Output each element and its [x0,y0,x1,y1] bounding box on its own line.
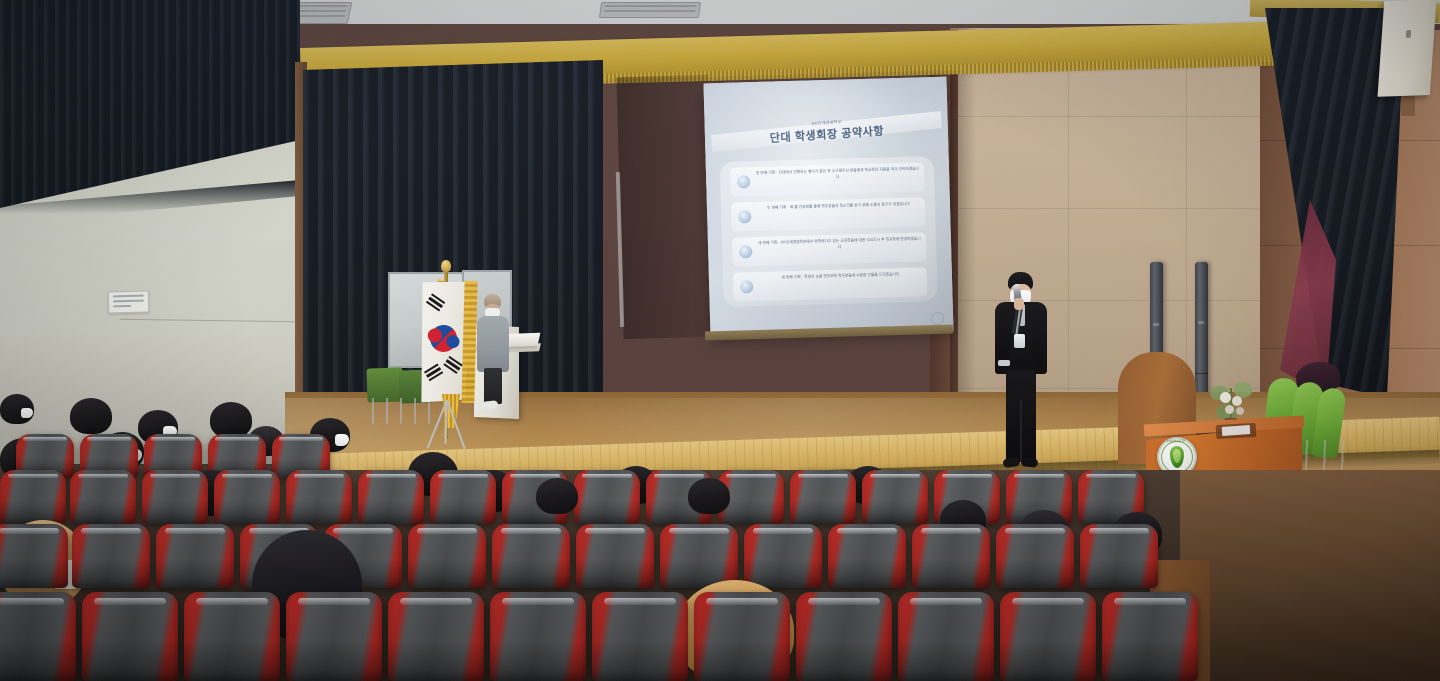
shoe [1002,457,1020,468]
seat-shading [862,500,928,524]
seat-top-trim [196,598,269,605]
seat-top-trim [94,598,167,605]
seat-top-trim [604,598,677,605]
seat-shading [70,500,136,524]
auditorium-seat[interactable] [592,592,688,681]
shoe [482,400,499,410]
bullet-dot-icon [737,175,750,188]
seat-shading [828,559,906,588]
house-floor-right [1180,470,1440,681]
id-badge [1014,334,1025,348]
seat-top-trim [798,474,848,478]
seat-top-trim [400,598,473,605]
auditorium-seat[interactable] [214,470,280,524]
seat-top-trim [1014,474,1064,478]
auditorium-seat[interactable] [408,524,486,588]
seat-top-trim [81,528,140,533]
emblem-top-text: DANKOOK [1156,438,1196,443]
seat-top-trim [0,528,59,533]
seat-top-trim [438,474,488,478]
seat-top-trim [215,437,259,441]
seat-top-trim [222,474,272,478]
seat-top-trim [501,528,560,533]
seat-top-trim [1005,528,1064,533]
seat-top-trim [669,528,728,533]
seat-shading [898,641,994,681]
podium-attendant [476,294,510,412]
seat-shading [694,641,790,681]
seat-top-trim [502,598,575,605]
seat-top-trim [1012,598,1085,605]
slide-bullet: 네 번째 기획 · 학생의 눈을 먼저보며 학우분들께 소중한 선물을 드리겠습… [733,267,928,301]
seat-top-trim [706,598,779,605]
shoe [1021,457,1039,468]
seat-top-trim [753,528,812,533]
flower-blossom [1232,396,1242,406]
arm-right [1032,306,1047,368]
seat-shading [996,559,1074,588]
taeguk-symbol-icon [425,320,461,356]
audience-member [210,402,252,438]
projection-screen: DK인재경영학부 단대 학생회장 공약사항 첫 번째 기획 · 단대에서 진행되… [703,77,953,339]
auditorium-photo: DK인재경영학부 단대 학생회장 공약사항 첫 번째 기획 · 단대에서 진행되… [0,0,1440,681]
trigram-icon [425,293,446,313]
audience-member [688,478,730,514]
auditorium-seat[interactable] [490,592,586,681]
seat-shading [790,500,856,524]
seat-shading [574,500,640,524]
bullet-text: 두 번째 기획 · 매 월 간담회를 통해 학우분들의 목소리를 듣기 위해 소… [756,200,921,211]
seat-top-trim [942,474,992,478]
seat-shading [214,500,280,524]
face-mask-icon [21,408,33,418]
audience-member [0,394,34,424]
seat-top-trim [1114,598,1187,605]
auditorium-seat[interactable] [492,524,570,588]
seat-shading [592,641,688,681]
screen-side-shadow [616,75,715,339]
audience-member [70,398,112,434]
seat-top-trim [1089,528,1148,533]
seat-shading [490,641,586,681]
seat-top-trim [165,528,224,533]
seat-shading [1080,559,1158,588]
seat-top-trim [294,474,344,478]
auditorium-seat[interactable] [912,524,990,588]
auditorium-seat[interactable] [286,592,382,681]
auditorium-seat[interactable] [82,592,178,681]
auditorium-seat[interactable] [0,592,76,681]
slide-bullet: 세 번째 기획 · DK인재경영학부에서 부족하다고 있는 교과목들에 대한 수… [732,232,927,266]
seat-top-trim [150,474,200,478]
seat-top-trim [366,474,416,478]
auditorium-seat[interactable] [430,470,496,524]
flower-blossom [1220,392,1231,403]
seat-top-trim [585,528,644,533]
legs [484,368,502,404]
auditorium-seat[interactable] [184,592,280,681]
seat-shading [912,559,990,588]
seat-shading [0,641,76,681]
seat-top-trim [0,598,64,605]
seat-shading [286,641,382,681]
seat-top-trim [87,437,131,441]
trouser-seam [1020,400,1022,462]
seat-top-trim [726,474,776,478]
flower-blossom [1236,407,1244,415]
seat-top-trim [279,437,323,441]
auditorium-seat[interactable] [694,592,790,681]
auditorium-seat[interactable] [70,470,136,524]
face-mask-icon [335,434,349,446]
auditorium-seat[interactable] [156,524,234,588]
ceiling-vent-icon [599,2,701,18]
slide-bullet-card: 첫 번째 기획 · 단대에서 진행되는 행사가 끝난 후 수고해주신 분들에게 … [720,156,938,307]
seat-top-trim [23,437,67,441]
seat-top-trim [582,474,632,478]
seat-top-trim [1086,474,1136,478]
hand [1014,298,1024,310]
seat-shading [1102,641,1198,681]
auditorium-seat[interactable] [1000,592,1096,681]
bullet-text: 세 번째 기획 · DK인재경영학부에서 부족하다고 있는 교과목들에 대한 수… [757,235,922,252]
seat-top-trim [837,528,896,533]
gray-hoodie [477,316,509,372]
seat-top-trim [78,474,128,478]
auditorium-seat[interactable] [744,524,822,588]
auditorium-seat[interactable] [828,524,906,588]
auditorium-seat[interactable] [996,524,1074,588]
wall-notice-sign [108,290,150,313]
seat-top-trim [808,598,881,605]
paper-sheet [1222,425,1251,436]
seat-shading [184,641,280,681]
seat-shading [430,500,496,524]
seat-top-trim [910,598,983,605]
seat-shading [408,559,486,588]
flag-finial-icon [441,260,451,272]
bullet-dot-icon [740,280,753,293]
auditorium-seat[interactable] [1080,524,1158,588]
slide-bullet: 첫 번째 기획 · 단대에서 진행되는 행사가 끝난 후 수고해주신 분들에게 … [730,162,925,196]
seat-shading [82,641,178,681]
bullet-text: 네 번째 기획 · 학생의 눈을 먼저보며 학우분들께 소중한 선물을 드리겠습… [758,270,923,281]
seat-shading [0,559,68,588]
auditorium-seat[interactable] [660,524,738,588]
seat-top-trim [654,474,704,478]
auditorium-seat[interactable] [790,470,856,524]
auditorium-seat[interactable] [0,524,68,588]
auditorium-seat[interactable] [576,524,654,588]
seat-shading [388,641,484,681]
auditorium-seat[interactable] [1102,592,1198,681]
auditorium-seat[interactable] [142,470,208,524]
auditorium-seat[interactable] [796,592,892,681]
seat-shading [492,559,570,588]
auditorium-seat[interactable] [898,592,994,681]
auditorium-seat[interactable] [0,470,66,524]
wall-speaker [1378,0,1437,97]
seat-top-trim [333,528,392,533]
flower-blossom [1225,405,1234,414]
presenter [995,272,1047,478]
seat-top-trim [8,474,58,478]
seat-top-trim [921,528,980,533]
seat-top-trim [417,528,476,533]
auditorium-seat[interactable] [72,524,150,588]
seat-shading [142,500,208,524]
trigram-icon [442,356,463,376]
audience-member [536,478,578,514]
bullet-text: 첫 번째 기획 · 단대에서 진행되는 행사가 끝난 후 수고해주신 분들에게 … [755,165,920,182]
presentation-slide: DK인재경영학부 단대 학생회장 공약사항 첫 번째 기획 · 단대에서 진행되… [703,77,953,339]
seat-shading [576,559,654,588]
auditorium-seat[interactable] [286,470,352,524]
auditorium-seat[interactable] [388,592,484,681]
seat-shading [72,559,150,588]
seat-top-trim [870,474,920,478]
seat-shading [358,500,424,524]
seat-shading [156,559,234,588]
auditorium-seat[interactable] [862,470,928,524]
seat-shading [286,500,352,524]
slide-bullet: 두 번째 기획 · 매 월 간담회를 통해 학우분들의 목소리를 듣기 위해 소… [731,197,926,231]
bullet-dot-icon [739,245,752,258]
seat-top-trim [151,437,195,441]
seat-top-trim [298,598,371,605]
auditorium-seat[interactable] [358,470,424,524]
auditorium-seat[interactable] [574,470,640,524]
slide-watermark-logo-icon [931,312,944,325]
shirt-cuff [998,360,1010,366]
seat-shading [1000,641,1096,681]
seat-shading [796,641,892,681]
bullet-dot-icon [738,210,751,223]
speaker-port-icon [1406,30,1412,38]
